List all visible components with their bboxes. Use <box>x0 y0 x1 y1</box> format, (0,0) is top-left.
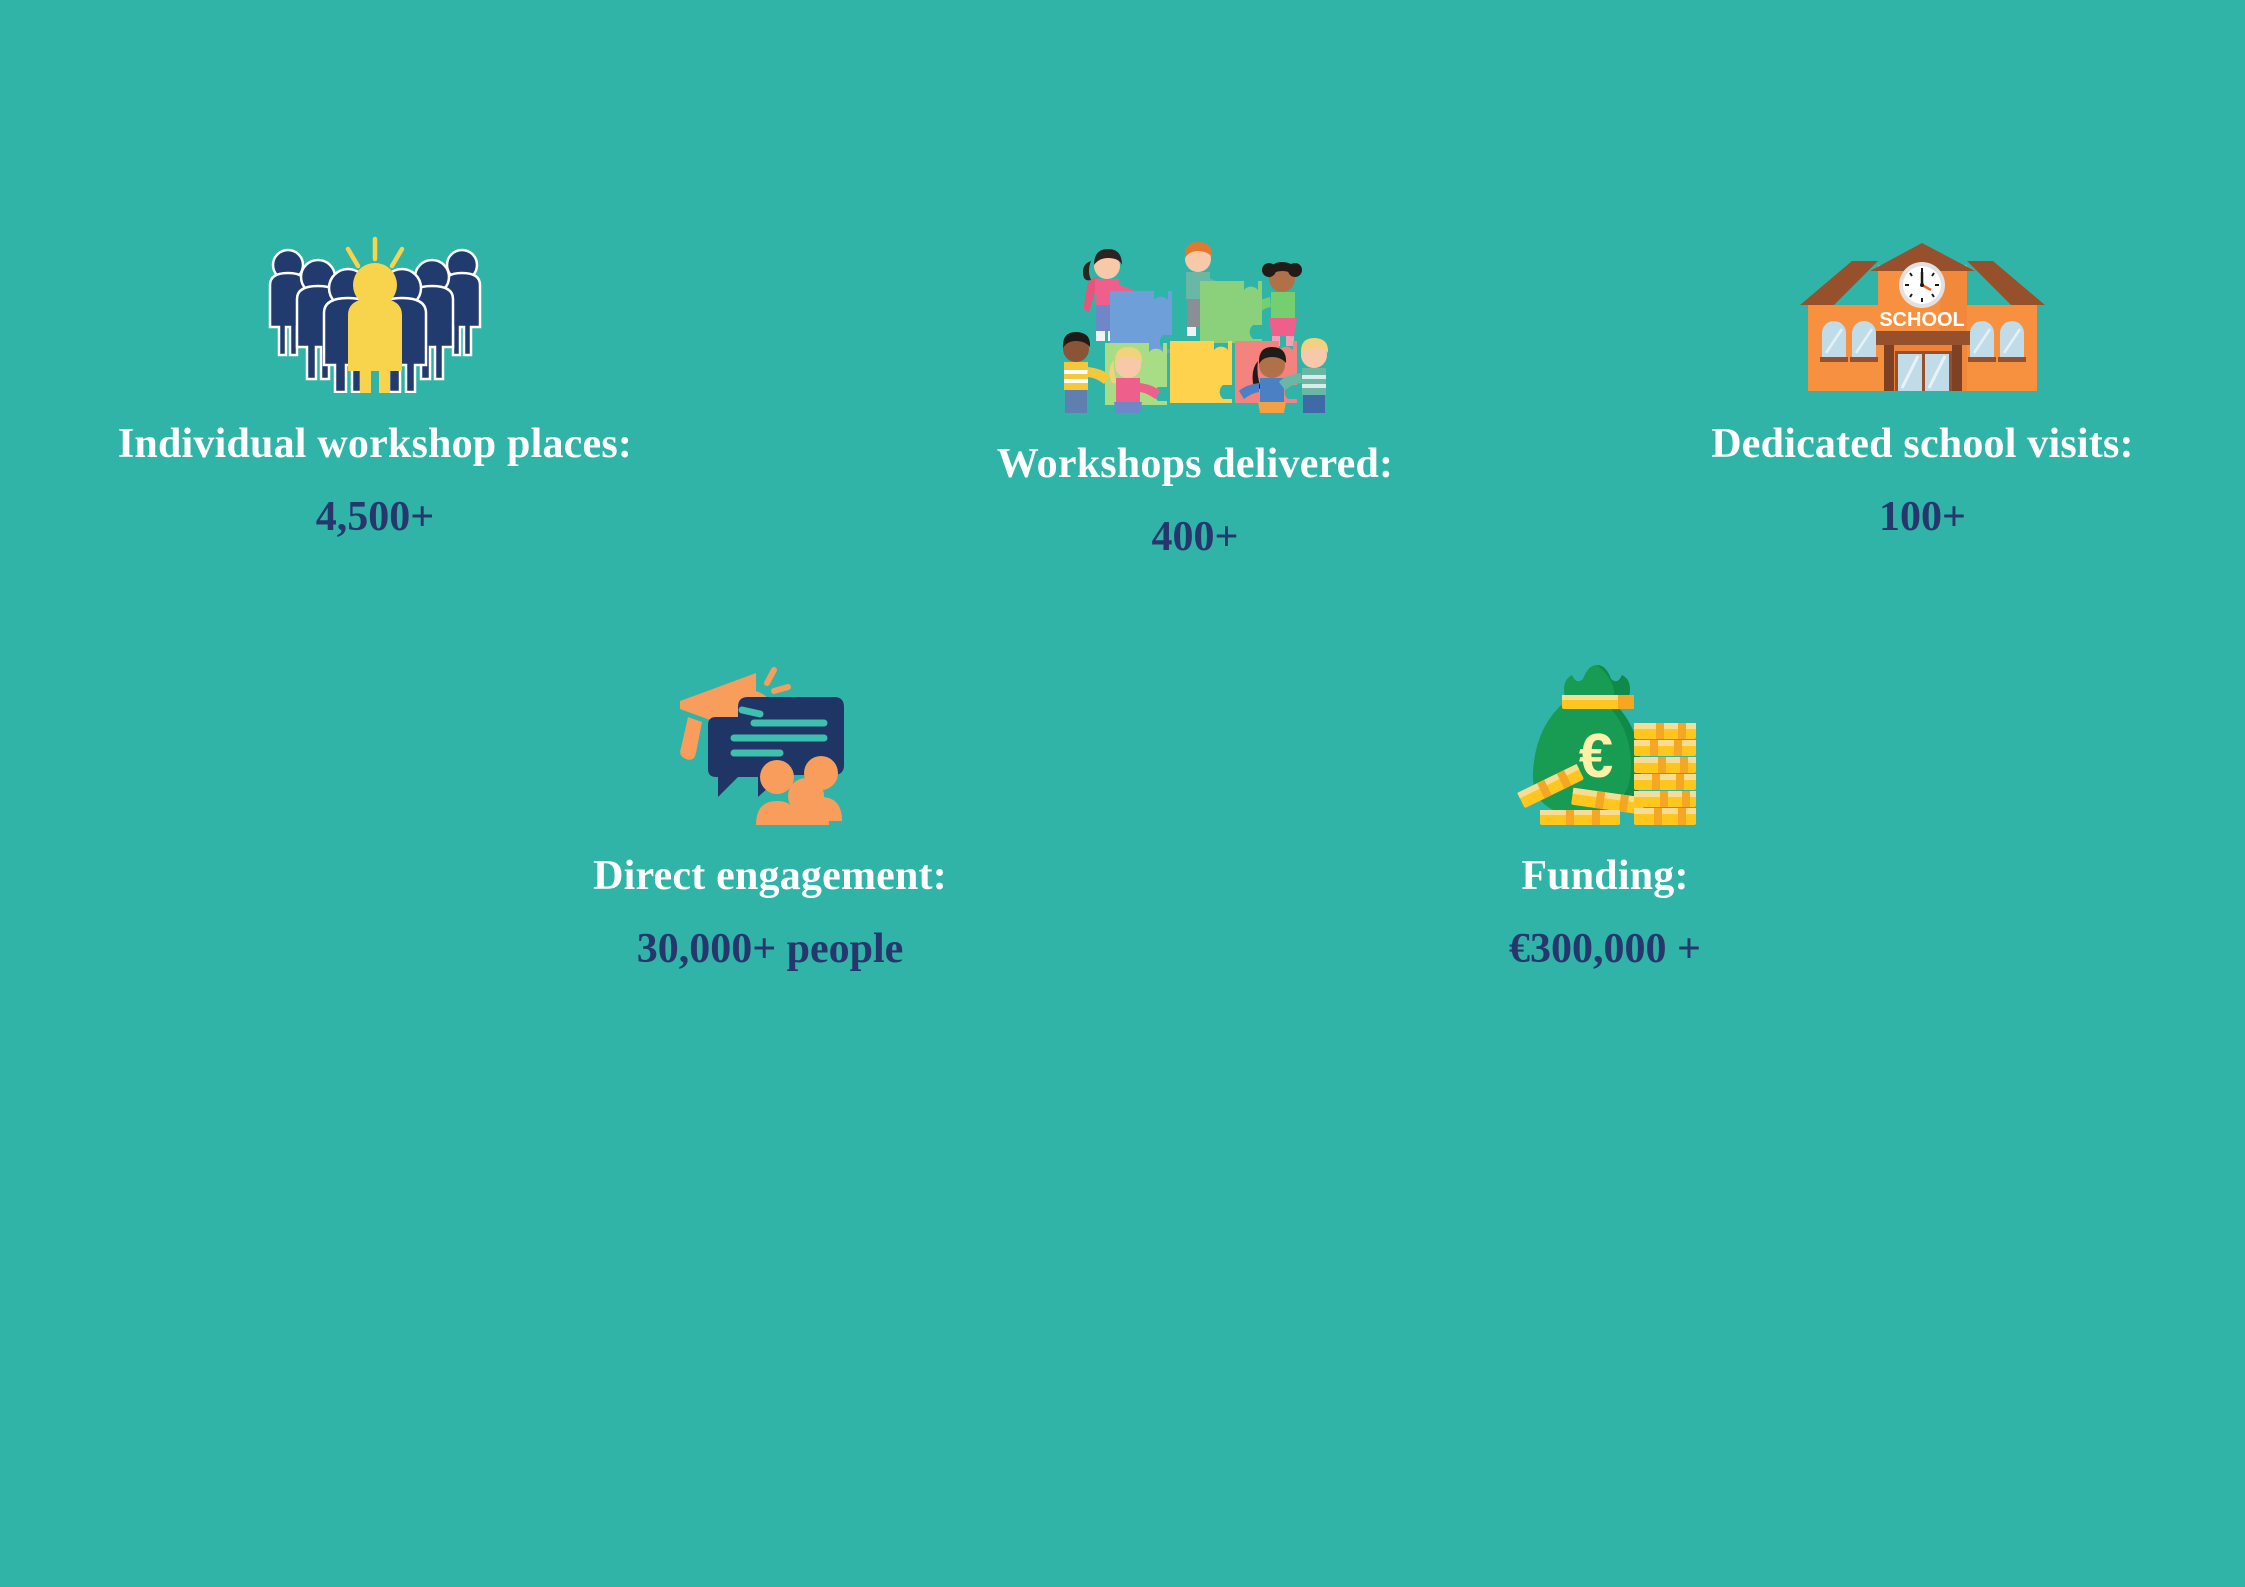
stat-individual-workshop-places: Individual workshop places: 4,500+ <box>55 228 695 541</box>
puzzle-piece-lightgreen <box>1200 281 1262 343</box>
stat-value: €300,000 + <box>1509 926 1701 973</box>
stat-value: 30,000+ people <box>637 926 904 973</box>
stat-label: Funding: <box>1521 853 1688 900</box>
money-bag-euro-coins-icon: € <box>1510 665 1700 825</box>
megaphone-speech-bubble-audience-icon <box>670 665 870 825</box>
stat-value: 400+ <box>1152 514 1239 561</box>
school-sign-text: SCHOOL <box>1879 309 1965 331</box>
icon-container <box>260 228 490 393</box>
stat-label: Workshops delivered: <box>997 441 1393 488</box>
icon-container <box>670 640 870 825</box>
stat-workshops-delivered: Workshops delivered: 400+ <box>905 228 1485 561</box>
stat-funding: € <box>1420 640 1790 973</box>
infographic-canvas: Individual workshop places: 4,500+ <box>0 0 2245 1587</box>
child-figure <box>1063 332 1110 413</box>
euro-symbol: € <box>1579 722 1613 791</box>
coin-stack <box>1634 723 1696 825</box>
stat-value: 4,500+ <box>316 494 434 541</box>
stat-value: 100+ <box>1879 494 1966 541</box>
stat-label: Dedicated school visits: <box>1711 421 2133 468</box>
stat-label: Direct engagement: <box>593 853 947 900</box>
stat-label: Individual workshop places: <box>118 421 632 468</box>
puzzle-piece-yellow <box>1170 341 1232 403</box>
icon-container <box>1050 228 1340 413</box>
icon-container: € <box>1510 640 1700 825</box>
icon-container: SCHOOL <box>1790 228 2055 393</box>
stat-direct-engagement: Direct engagement: 30,000+ people <box>545 640 995 973</box>
sunburst-rays <box>348 239 402 266</box>
group-of-people-with-highlighted-leader-icon <box>260 233 490 393</box>
children-assembling-jigsaw-puzzle-icon <box>1050 233 1340 413</box>
school-building-icon: SCHOOL <box>1790 243 2055 393</box>
stat-dedicated-school-visits: SCHOOL <box>1650 228 2195 541</box>
